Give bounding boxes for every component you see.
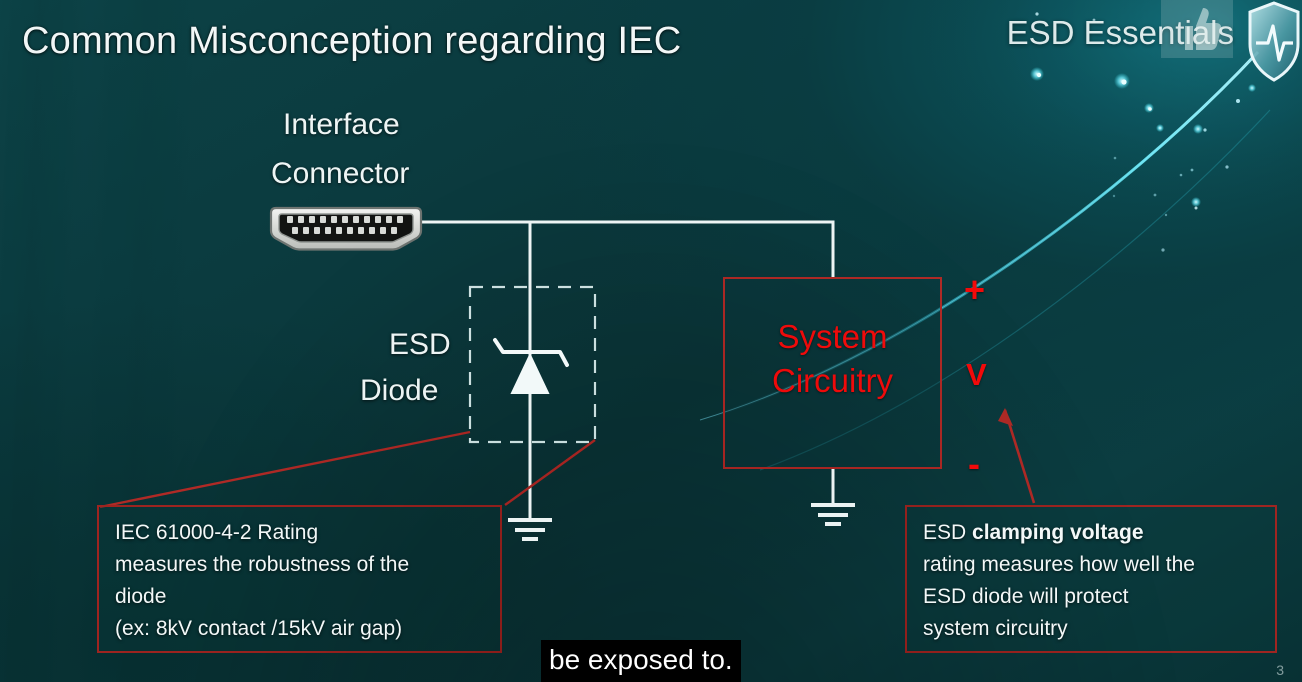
callout-left-line2: measures the robustness of the xyxy=(115,549,486,581)
video-caption: be exposed to. xyxy=(541,640,741,682)
ground-icon-system xyxy=(811,505,855,524)
callout-iec-rating: IEC 61000-4-2 Rating measures the robust… xyxy=(97,505,502,653)
hdmi-connector-icon xyxy=(267,205,425,252)
callout-right-line2: rating measures how well the xyxy=(923,549,1261,581)
esd-diode-label-line1: ESD xyxy=(389,328,451,362)
left-callout-leader xyxy=(100,432,595,507)
slide-canvas: Common Misconception regarding IEC ESD E… xyxy=(0,0,1302,682)
right-callout-arrow xyxy=(998,408,1034,503)
callout-right-bold: clamping voltage xyxy=(972,521,1144,544)
callout-right-lead: ESD xyxy=(923,521,972,544)
polarity-minus-label: - xyxy=(968,443,980,485)
callout-clamping-voltage: ESD clamping voltage rating measures how… xyxy=(905,505,1277,653)
system-circuitry-line1: System xyxy=(723,315,942,359)
system-circuitry-text: System Circuitry xyxy=(723,315,942,403)
callout-right-line1: ESD clamping voltage xyxy=(923,517,1261,549)
callout-left-line4: (ex: 8kV contact /15kV air gap) xyxy=(115,613,486,645)
esd-diode-label-line2: Diode xyxy=(360,374,438,408)
callout-right-line4: system circuitry xyxy=(923,613,1261,645)
polarity-plus-label: + xyxy=(964,269,985,311)
interface-label-line1: Interface xyxy=(283,108,400,142)
callout-left-line1: IEC 61000-4-2 Rating xyxy=(115,517,486,549)
ground-icon xyxy=(508,520,552,539)
interface-label-line2: Connector xyxy=(271,157,409,191)
callout-right-line3: ESD diode will protect xyxy=(923,581,1261,613)
callout-left-line3: diode xyxy=(115,581,486,613)
polarity-voltage-label: V xyxy=(966,357,987,393)
page-number: 3 xyxy=(1276,662,1284,678)
system-circuitry-line2: Circuitry xyxy=(723,359,942,403)
